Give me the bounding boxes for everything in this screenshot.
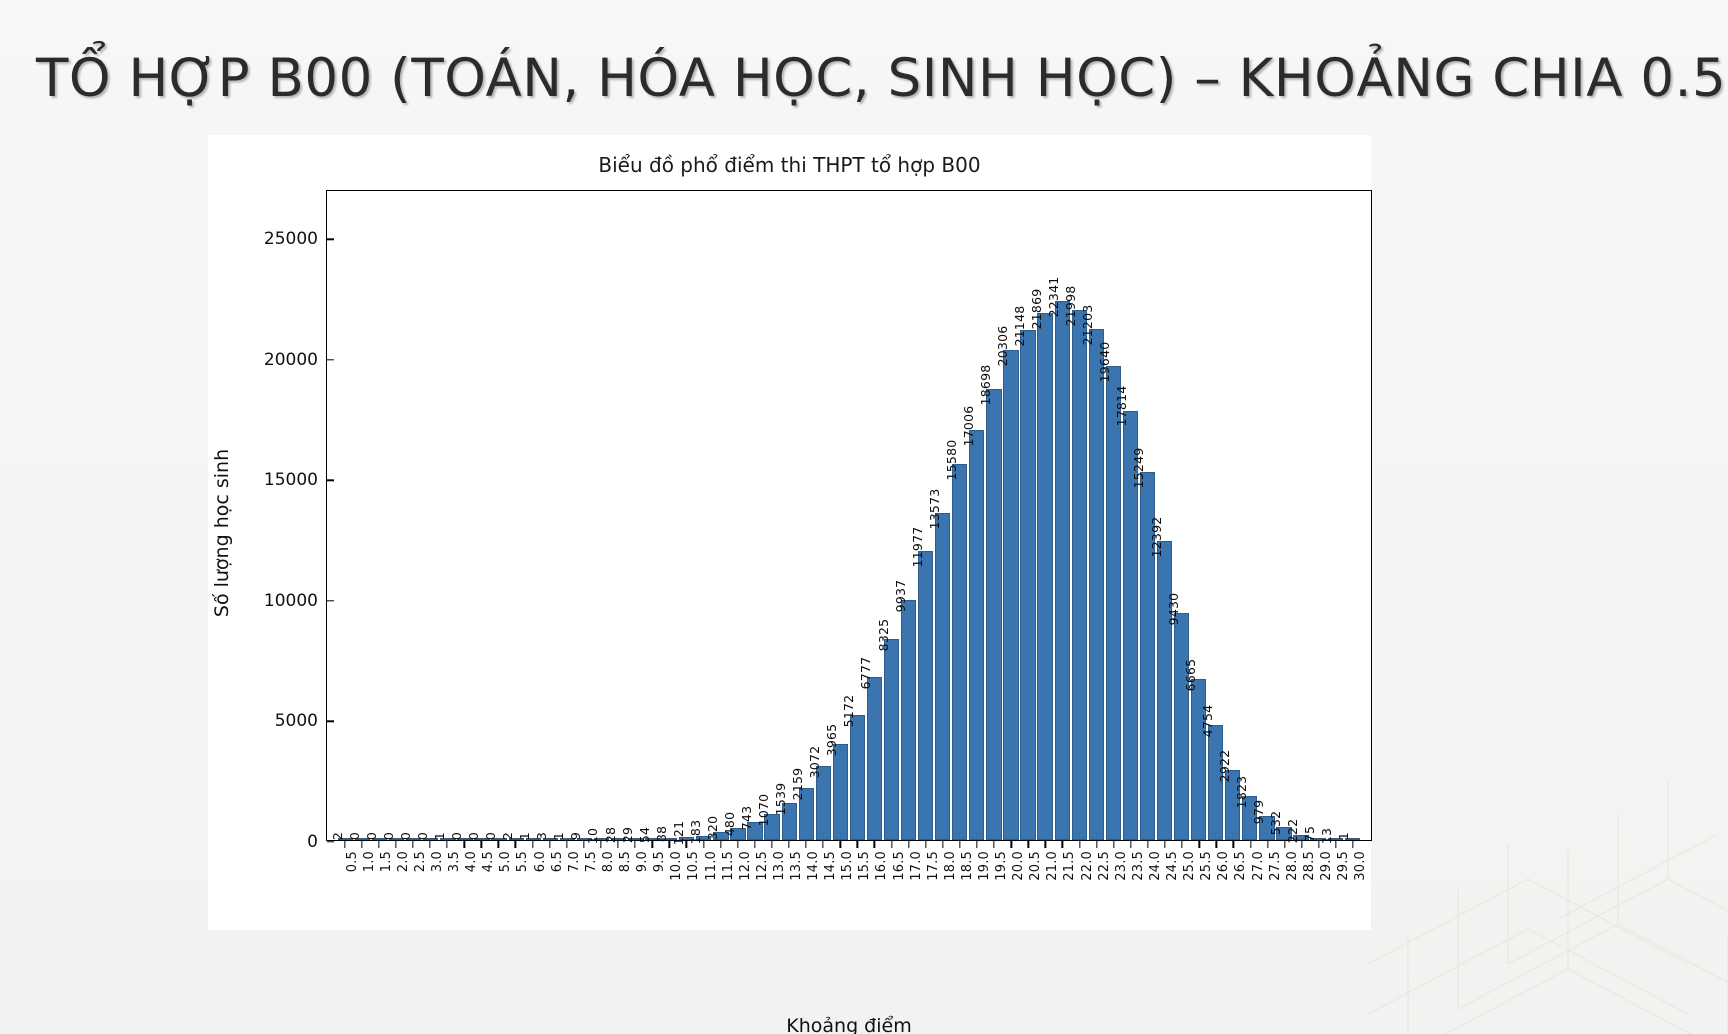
x-tick-mark bbox=[498, 841, 499, 848]
bar-value-label: 121 bbox=[671, 821, 686, 845]
bar-slot: 3965 bbox=[833, 191, 848, 840]
bar-slot: 532 bbox=[1276, 191, 1291, 840]
bar-slot: 17814 bbox=[1123, 191, 1138, 840]
x-tick-label: 23.5 bbox=[1131, 851, 1146, 881]
x-tick-mark bbox=[1130, 841, 1131, 848]
bar-value-label: 0 bbox=[483, 832, 498, 840]
x-tick-mark bbox=[1113, 841, 1114, 848]
x-tick-mark bbox=[566, 841, 567, 848]
x-tick-mark bbox=[925, 841, 926, 848]
bar-value-label: 9937 bbox=[893, 580, 908, 613]
bar-slot: 54 bbox=[645, 191, 660, 840]
bar[interactable] bbox=[969, 430, 984, 840]
bar-slot: 0 bbox=[406, 191, 421, 840]
x-tick-mark bbox=[788, 841, 789, 848]
bar-slot: 9430 bbox=[1174, 191, 1189, 840]
bar-slot: 0 bbox=[372, 191, 387, 840]
plot-area: 0500010000150002000025000 20000010002131… bbox=[326, 190, 1372, 841]
x-tick-label: 2.5 bbox=[413, 851, 428, 872]
bar-value-label: 3965 bbox=[824, 724, 839, 757]
x-tick-mark bbox=[1181, 841, 1182, 848]
bar-value-label: 4754 bbox=[1200, 705, 1215, 738]
x-tick-label: 9.0 bbox=[635, 851, 650, 872]
bar-value-label: 13 bbox=[1319, 828, 1334, 844]
x-tick-label: 11.5 bbox=[721, 851, 736, 881]
x-tick-label: 8.0 bbox=[601, 851, 616, 872]
x-tick-label: 17.0 bbox=[909, 851, 924, 881]
bar-slot: 2922 bbox=[1225, 191, 1240, 840]
bar[interactable] bbox=[918, 551, 933, 840]
bar-value-label: 9 bbox=[568, 832, 583, 840]
x-tick-mark bbox=[754, 841, 755, 848]
bar[interactable] bbox=[1174, 613, 1189, 840]
bar-slot: 13573 bbox=[935, 191, 950, 840]
x-tick-label: 28.0 bbox=[1285, 851, 1300, 881]
x-tick-label: 24.5 bbox=[1165, 851, 1180, 881]
x-tick-mark bbox=[959, 841, 960, 848]
y-axis-tick: 15000 bbox=[264, 470, 327, 490]
bar-value-label: 17814 bbox=[1114, 386, 1129, 427]
x-tick-mark bbox=[993, 841, 994, 848]
bar-value-label: 10 bbox=[585, 828, 600, 844]
bar-value-label: 9430 bbox=[1166, 592, 1181, 625]
x-tick-label: 18.5 bbox=[960, 851, 975, 881]
x-tick-mark bbox=[891, 841, 892, 848]
x-tick-mark bbox=[857, 841, 858, 848]
bar-value-label: 0 bbox=[398, 832, 413, 840]
x-tick-label: 25.0 bbox=[1182, 851, 1197, 881]
bar[interactable] bbox=[1072, 310, 1087, 840]
bar-slot: 17006 bbox=[969, 191, 984, 840]
x-tick-mark bbox=[1147, 841, 1148, 848]
bar-value-label: 13573 bbox=[927, 488, 942, 529]
x-tick-label: 27.5 bbox=[1268, 851, 1283, 881]
x-tick-label: 21.5 bbox=[1062, 851, 1077, 881]
bar-value-label: 183 bbox=[688, 819, 703, 843]
x-tick-mark bbox=[771, 841, 772, 848]
bar-slot: 480 bbox=[730, 191, 745, 840]
bar-slot: 1 bbox=[440, 191, 455, 840]
bar-value-label: 6665 bbox=[1183, 659, 1198, 692]
x-tick-label: 16.0 bbox=[874, 851, 889, 881]
x-tick-mark bbox=[720, 841, 721, 848]
x-tick-mark bbox=[1267, 841, 1268, 848]
x-tick-mark bbox=[1164, 841, 1165, 848]
bar[interactable] bbox=[1003, 350, 1018, 840]
bar-slot: 1823 bbox=[1242, 191, 1257, 840]
bar-value-label: 21869 bbox=[1029, 288, 1044, 329]
x-tick-mark bbox=[1216, 841, 1217, 848]
x-tick-mark bbox=[1233, 841, 1234, 848]
x-tick-mark bbox=[805, 841, 806, 848]
x-tick-label: 28.5 bbox=[1302, 851, 1317, 881]
bar-value-label: 979 bbox=[1251, 800, 1266, 824]
bar-slot: 15580 bbox=[952, 191, 967, 840]
bar-slot: 3 bbox=[543, 191, 558, 840]
x-tick-label: 7.0 bbox=[567, 851, 582, 872]
bar-value-label: 1 bbox=[551, 832, 566, 840]
presentation-slide: TỔ HỢP B00 (TOÁN, HÓA HỌC, SINH HỌC) – K… bbox=[0, 0, 1728, 1034]
bar-slot: 0 bbox=[491, 191, 506, 840]
x-tick-label: 4.5 bbox=[481, 851, 496, 872]
x-tick-mark bbox=[395, 841, 396, 848]
bar-slot: 18698 bbox=[986, 191, 1001, 840]
x-tick-label: 10.0 bbox=[669, 851, 684, 881]
bar-value-label: 1 bbox=[517, 832, 532, 840]
x-tick-mark bbox=[429, 841, 430, 848]
x-tick-mark bbox=[976, 841, 977, 848]
y-axis-tick: 0 bbox=[307, 832, 327, 852]
x-tick-label: 14.0 bbox=[806, 851, 821, 881]
bar-slot: 743 bbox=[747, 191, 762, 840]
x-tick-label: 17.5 bbox=[926, 851, 941, 881]
bar-slot: 1 bbox=[526, 191, 541, 840]
bar-slot: 1 bbox=[1345, 191, 1360, 840]
x-tick-mark bbox=[1318, 841, 1319, 848]
x-tick-mark bbox=[532, 841, 533, 848]
bar-slot: 9 bbox=[577, 191, 592, 840]
x-tick-label: 7.5 bbox=[584, 851, 599, 872]
bar-value-label: 22341 bbox=[1046, 277, 1061, 318]
x-tick-label: 12.0 bbox=[738, 851, 753, 881]
bar[interactable] bbox=[850, 715, 865, 840]
x-tick-label: 15.0 bbox=[840, 851, 855, 881]
bar[interactable] bbox=[986, 389, 1001, 840]
x-tick-mark bbox=[1011, 841, 1012, 848]
x-tick-mark bbox=[737, 841, 738, 848]
chart-figure: Biểu đồ phổ điểm thi THPT tổ hợp B00 Số … bbox=[208, 135, 1371, 930]
x-tick-label: 4.0 bbox=[464, 851, 479, 872]
bar-slot: 2 bbox=[338, 191, 353, 840]
x-tick-label: 12.5 bbox=[755, 851, 770, 881]
x-tick-mark bbox=[481, 841, 482, 848]
bar-slot: 13 bbox=[1328, 191, 1343, 840]
bar-slot: 2 bbox=[509, 191, 524, 840]
bar[interactable] bbox=[1208, 725, 1223, 840]
bar-value-label: 0 bbox=[347, 832, 362, 840]
x-tick-mark bbox=[1045, 841, 1046, 848]
x-tick-label: 26.0 bbox=[1216, 851, 1231, 881]
bar-value-label: 8325 bbox=[876, 619, 891, 652]
bar-value-label: 11977 bbox=[910, 527, 925, 568]
bar-value-label: 3072 bbox=[807, 746, 822, 779]
x-tick-label: 20.0 bbox=[1011, 851, 1026, 881]
bar-value-label: 1539 bbox=[773, 783, 788, 816]
bar-slot: 4754 bbox=[1208, 191, 1223, 840]
bar-slot: 979 bbox=[1259, 191, 1274, 840]
bar-value-label: 480 bbox=[722, 812, 737, 836]
x-tick-label: 1.5 bbox=[379, 851, 394, 872]
x-tick-mark bbox=[1199, 841, 1200, 848]
bar-value-label: 532 bbox=[1268, 811, 1283, 835]
bar-value-label: 5172 bbox=[841, 695, 856, 728]
x-tick-mark bbox=[361, 841, 362, 848]
x-tick-mark bbox=[669, 841, 670, 848]
y-axis-tick: 5000 bbox=[275, 711, 327, 731]
x-tick-mark bbox=[942, 841, 943, 848]
x-tick-label: 3.5 bbox=[447, 851, 462, 872]
x-tick-label: 22.5 bbox=[1097, 851, 1112, 881]
bar-value-label: 0 bbox=[381, 832, 396, 840]
bar[interactable] bbox=[1191, 679, 1206, 840]
x-tick-label: 27.0 bbox=[1251, 851, 1266, 881]
x-tick-label: 14.5 bbox=[823, 851, 838, 881]
bar-slot: 12392 bbox=[1157, 191, 1172, 840]
bar-value-label: 2 bbox=[500, 832, 515, 840]
x-tick-label: 20.5 bbox=[1028, 851, 1043, 881]
bar[interactable] bbox=[935, 513, 950, 840]
bar-slot: 88 bbox=[662, 191, 677, 840]
bar-slot: 0 bbox=[355, 191, 370, 840]
x-tick-mark bbox=[446, 841, 447, 848]
x-tick-label: 22.0 bbox=[1080, 851, 1095, 881]
bar[interactable] bbox=[952, 464, 967, 840]
bar-value-label: 2159 bbox=[790, 768, 805, 801]
x-tick-mark bbox=[600, 841, 601, 848]
x-tick-label: 29.5 bbox=[1336, 851, 1351, 881]
x-tick-mark bbox=[686, 841, 687, 848]
bar-value-label: 29 bbox=[620, 827, 635, 843]
bar-value-label: 20306 bbox=[995, 326, 1010, 367]
bar-slot: 28 bbox=[611, 191, 626, 840]
x-tick-mark bbox=[634, 841, 635, 848]
x-tick-label: 0.5 bbox=[345, 851, 360, 872]
x-tick-label: 19.5 bbox=[994, 851, 1009, 881]
bar[interactable] bbox=[1055, 301, 1070, 840]
x-tick-label: 21.0 bbox=[1045, 851, 1060, 881]
bar-slot: 75 bbox=[1310, 191, 1325, 840]
bar-slot: 1070 bbox=[764, 191, 779, 840]
page-title: TỔ HỢP B00 (TOÁN, HÓA HỌC, SINH HỌC) – K… bbox=[36, 48, 1536, 109]
x-tick-label: 3.0 bbox=[430, 851, 445, 872]
bar-value-label: 2922 bbox=[1217, 749, 1232, 782]
x-tick-mark bbox=[823, 841, 824, 848]
x-tick-mark bbox=[412, 841, 413, 848]
x-tick-label: 9.5 bbox=[652, 851, 667, 872]
x-tick-mark bbox=[515, 841, 516, 848]
bar-slot: 8325 bbox=[884, 191, 899, 840]
x-tick-mark bbox=[1250, 841, 1251, 848]
bar-slot: 21998 bbox=[1072, 191, 1087, 840]
bar-value-label: 19640 bbox=[1097, 342, 1112, 383]
x-tick-mark bbox=[583, 841, 584, 848]
bar-value-label: 88 bbox=[654, 826, 669, 842]
x-tick-mark bbox=[874, 841, 875, 848]
x-tick-label: 26.5 bbox=[1233, 851, 1248, 881]
x-tick-label: 1.0 bbox=[362, 851, 377, 872]
x-tick-mark bbox=[652, 841, 653, 848]
x-tick-label: 15.5 bbox=[857, 851, 872, 881]
bar-value-label: 222 bbox=[1285, 818, 1300, 842]
bar-value-label: 75 bbox=[1302, 826, 1317, 842]
bar-value-label: 21203 bbox=[1080, 304, 1095, 345]
x-tick-mark bbox=[703, 841, 704, 848]
bar-value-label: 1 bbox=[432, 832, 447, 840]
bar[interactable] bbox=[1089, 329, 1104, 840]
y-axis-tick: 20000 bbox=[264, 350, 327, 370]
bar-value-label: 17006 bbox=[961, 406, 976, 447]
x-tick-label: 29.0 bbox=[1319, 851, 1334, 881]
bar[interactable] bbox=[1037, 313, 1052, 840]
x-tick-mark bbox=[1079, 841, 1080, 848]
x-axis-label: Khoảng điểm bbox=[326, 1015, 1372, 1034]
bar[interactable] bbox=[884, 639, 899, 840]
x-tick-label: 10.5 bbox=[686, 851, 701, 881]
bar-slot: 19640 bbox=[1106, 191, 1121, 840]
bar-value-label: 15580 bbox=[944, 440, 959, 481]
x-tick-label: 8.5 bbox=[618, 851, 633, 872]
bar-series: 2000001000213191028295488121183320480743… bbox=[327, 191, 1371, 840]
bar-slot: 1539 bbox=[782, 191, 797, 840]
y-axis-tick: 25000 bbox=[264, 229, 327, 249]
bar[interactable] bbox=[1020, 330, 1035, 840]
x-tick-label: 13.5 bbox=[789, 851, 804, 881]
bar-value-label: 21148 bbox=[1012, 306, 1027, 347]
bar-slot: 21203 bbox=[1089, 191, 1104, 840]
bar-value-label: 12392 bbox=[1149, 517, 1164, 558]
x-tick-mark bbox=[1028, 841, 1029, 848]
bar-value-label: 1 bbox=[1336, 832, 1351, 840]
bar-slot: 0 bbox=[474, 191, 489, 840]
bar[interactable] bbox=[1106, 366, 1121, 840]
bar-slot: 10 bbox=[594, 191, 609, 840]
x-tick-mark bbox=[1062, 841, 1063, 848]
x-tick-mark bbox=[1352, 841, 1353, 848]
x-tick-label: 6.5 bbox=[550, 851, 565, 872]
bar-slot: 6777 bbox=[867, 191, 882, 840]
bar-value-label: 54 bbox=[637, 827, 652, 843]
bar[interactable] bbox=[1157, 541, 1172, 840]
x-tick-mark bbox=[464, 841, 465, 848]
x-tick-mark bbox=[1301, 841, 1302, 848]
x-tick-mark bbox=[1284, 841, 1285, 848]
bar-value-label: 0 bbox=[449, 832, 464, 840]
bar-value-label: 1823 bbox=[1234, 776, 1249, 809]
bar[interactable] bbox=[867, 677, 882, 840]
x-tick-mark bbox=[617, 841, 618, 848]
x-tick-label: 5.5 bbox=[515, 851, 530, 872]
bar-value-label: 320 bbox=[705, 816, 720, 840]
x-tick-label: 11.0 bbox=[704, 851, 719, 881]
bar-value-label: 28 bbox=[603, 827, 618, 843]
x-tick-mark bbox=[840, 841, 841, 848]
x-tick-mark bbox=[549, 841, 550, 848]
bar-slot: 20306 bbox=[1003, 191, 1018, 840]
x-tick-mark bbox=[1096, 841, 1097, 848]
x-tick-mark bbox=[1335, 841, 1336, 848]
x-tick-label: 18.0 bbox=[943, 851, 958, 881]
bar-value-label: 743 bbox=[739, 806, 754, 830]
bar-value-label: 1070 bbox=[756, 794, 771, 827]
bar-slot: 1 bbox=[560, 191, 575, 840]
x-tick-label: 6.0 bbox=[533, 851, 548, 872]
bar-value-label: 2 bbox=[330, 832, 345, 840]
bar-slot: 29 bbox=[628, 191, 643, 840]
x-tick-label: 24.0 bbox=[1148, 851, 1163, 881]
bar-value-label: 3 bbox=[534, 832, 549, 840]
bar-value-label: 21998 bbox=[1063, 285, 1078, 326]
bar-value-label: 0 bbox=[415, 832, 430, 840]
x-tick-label: 13.0 bbox=[772, 851, 787, 881]
bar-slot: 5172 bbox=[850, 191, 865, 840]
y-axis-tick: 10000 bbox=[264, 591, 327, 611]
bar-slot: 222 bbox=[1293, 191, 1308, 840]
bar-value-label: 15249 bbox=[1131, 448, 1146, 489]
bar-slot: 183 bbox=[696, 191, 711, 840]
x-tick-label: 23.0 bbox=[1114, 851, 1129, 881]
x-tick-label: 30.0 bbox=[1353, 851, 1368, 881]
bar-slot: 6665 bbox=[1191, 191, 1206, 840]
bar-slot: 320 bbox=[713, 191, 728, 840]
chart-title: Biểu đồ phổ điểm thi THPT tổ hợp B00 bbox=[208, 153, 1371, 177]
bar[interactable] bbox=[833, 744, 848, 840]
x-tick-label: 19.0 bbox=[977, 851, 992, 881]
x-tick-mark bbox=[344, 841, 345, 848]
bar[interactable] bbox=[901, 600, 916, 840]
x-tick-label: 5.0 bbox=[498, 851, 513, 872]
bar-value-label: 0 bbox=[364, 832, 379, 840]
bar-slot: 2159 bbox=[799, 191, 814, 840]
x-tick-label: 2.0 bbox=[396, 851, 411, 872]
x-tick-label: 16.5 bbox=[892, 851, 907, 881]
x-tick-mark bbox=[378, 841, 379, 848]
bar-slot: 15249 bbox=[1140, 191, 1155, 840]
bar-slot: 0 bbox=[457, 191, 472, 840]
x-tick-label: 25.5 bbox=[1199, 851, 1214, 881]
bar-value-label: 0 bbox=[466, 832, 481, 840]
bar-slot: 0 bbox=[389, 191, 404, 840]
bar-slot: 121 bbox=[679, 191, 694, 840]
bar-value-label: 6777 bbox=[858, 656, 873, 689]
x-tick-mark bbox=[908, 841, 909, 848]
decorative-grid bbox=[1368, 754, 1728, 1034]
bar-value-label: 18698 bbox=[978, 365, 993, 406]
bar-slot: 0 bbox=[423, 191, 438, 840]
y-axis-label: Số lượng học sinh bbox=[211, 448, 233, 616]
bar-slot: 9937 bbox=[901, 191, 916, 840]
